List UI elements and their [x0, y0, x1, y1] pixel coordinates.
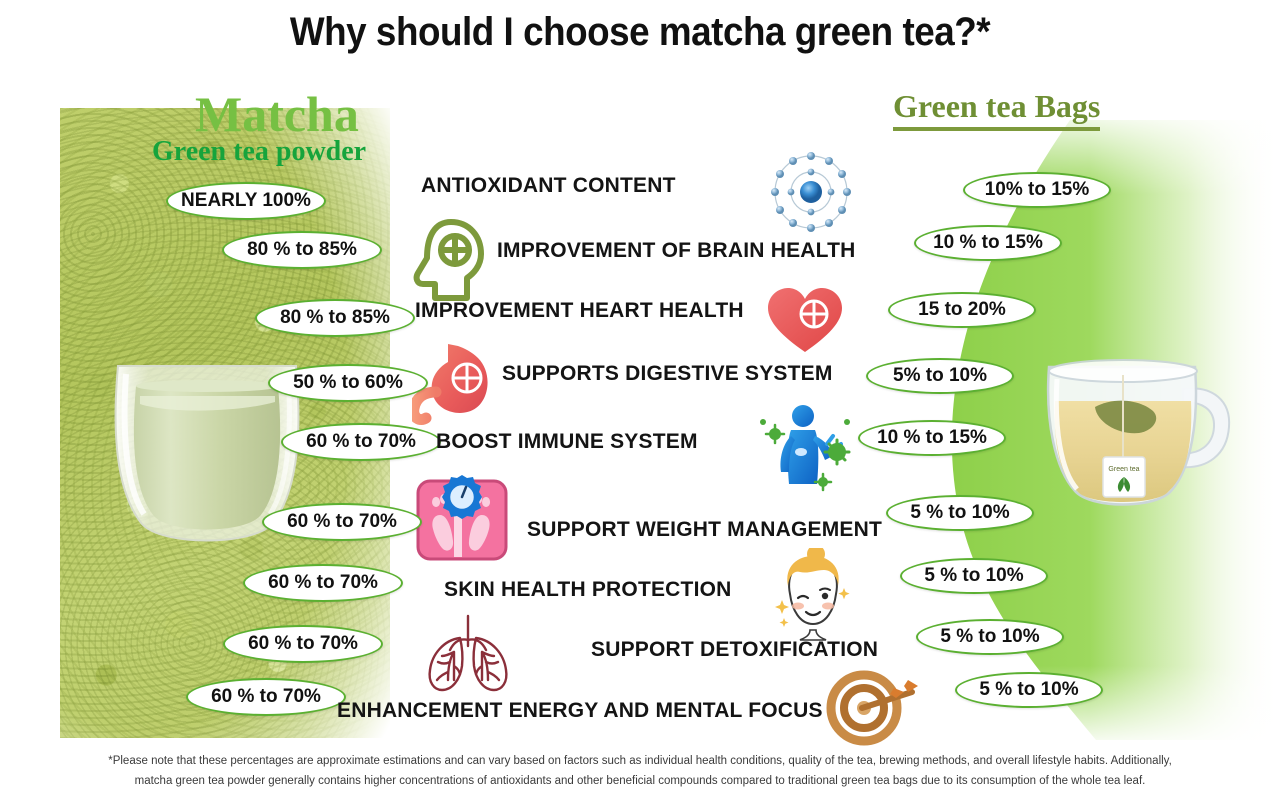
benefit-label-detox: SUPPORT DETOXIFICATION — [591, 638, 878, 662]
green-tea-bag-mug: Green tea — [1035, 345, 1235, 530]
lungs-icon — [420, 610, 516, 696]
bags-pill-antioxidant[interactable]: 10% to 15% — [963, 172, 1111, 208]
matcha-pill-detox[interactable]: 60 % to 70% — [223, 625, 383, 663]
pill-value: NEARLY 100% — [181, 190, 311, 212]
bags-pill-digestive[interactable]: 5% to 10% — [866, 358, 1014, 394]
bags-pill-heart[interactable]: 15 to 20% — [888, 292, 1036, 328]
benefit-label-heart: IMPROVEMENT HEART HEALTH — [415, 299, 744, 323]
pill-value: 80 % to 85% — [247, 239, 357, 261]
pill-value: 10% to 15% — [985, 179, 1090, 201]
green-tea-bags-title: Green tea Bags — [893, 88, 1100, 131]
pill-value: 80 % to 85% — [280, 307, 390, 329]
matcha-pill-skin[interactable]: 60 % to 70% — [243, 564, 403, 602]
benefit-label-weight: SUPPORT WEIGHT MANAGEMENT — [527, 518, 882, 542]
matcha-pill-antioxidant[interactable]: NEARLY 100% — [166, 182, 326, 220]
benefit-label-skin: SKIN HEALTH PROTECTION — [444, 578, 732, 602]
infographic-canvas: Green tea Matcha Green tea powder Green … — [0, 0, 1280, 794]
bags-pill-weight[interactable]: 5 % to 10% — [886, 495, 1034, 531]
pill-value: 60 % to 70% — [287, 511, 397, 533]
target-icon — [820, 670, 918, 746]
matcha-pill-energy[interactable]: 60 % to 70% — [186, 678, 346, 716]
footnote: *Please note that these percentages are … — [60, 752, 1220, 791]
pill-value: 5% to 10% — [893, 365, 987, 387]
bags-pill-brain[interactable]: 10 % to 15% — [914, 225, 1062, 261]
brain-head-icon — [407, 216, 491, 304]
face-icon — [768, 548, 858, 644]
benefit-label-energy: ENHANCEMENT ENERGY AND MENTAL FOCUS — [337, 699, 823, 723]
bags-pill-energy[interactable]: 5 % to 10% — [955, 672, 1103, 708]
matcha-subtitle: Green tea powder — [152, 136, 366, 168]
pill-value: 60 % to 70% — [248, 633, 358, 655]
pill-value: 5 % to 10% — [924, 565, 1023, 587]
teabag-tag-text: Green tea — [1108, 466, 1139, 473]
benefit-label-immune: BOOST IMMUNE SYSTEM — [436, 430, 698, 454]
footnote-line-2: matcha green tea powder generally contai… — [60, 772, 1220, 792]
pill-value: 60 % to 70% — [306, 431, 416, 453]
matcha-pill-heart[interactable]: 80 % to 85% — [255, 299, 415, 337]
pill-value: 5 % to 10% — [910, 502, 1009, 524]
matcha-pill-digestive[interactable]: 50 % to 60% — [268, 364, 428, 402]
immunity-icon — [757, 400, 857, 492]
matcha-title: Matcha — [195, 85, 359, 143]
matcha-pill-brain[interactable]: 80 % to 85% — [222, 231, 382, 269]
pill-value: 5 % to 10% — [979, 679, 1078, 701]
bags-pill-skin[interactable]: 5 % to 10% — [900, 558, 1048, 594]
pill-value: 10 % to 15% — [877, 427, 987, 449]
pill-value: 50 % to 60% — [293, 372, 403, 394]
pill-value: 10 % to 15% — [933, 232, 1043, 254]
footnote-line-1: *Please note that these percentages are … — [60, 752, 1220, 772]
bags-pill-immune[interactable]: 10 % to 15% — [858, 420, 1006, 456]
page-title: Why should I choose matcha green tea?* — [51, 10, 1229, 55]
atom-icon — [765, 148, 857, 236]
pill-value: 60 % to 70% — [211, 686, 321, 708]
heart-icon — [762, 282, 848, 358]
matcha-pill-immune[interactable]: 60 % to 70% — [281, 423, 441, 461]
matcha-pill-weight[interactable]: 60 % to 70% — [262, 503, 422, 541]
pill-value: 60 % to 70% — [268, 572, 378, 594]
benefit-label-digestive: SUPPORTS DIGESTIVE SYSTEM — [502, 362, 833, 386]
weight-scale-icon — [410, 473, 514, 565]
pill-value: 5 % to 10% — [940, 626, 1039, 648]
benefit-label-brain: IMPROVEMENT OF BRAIN HEALTH — [497, 239, 856, 263]
pill-value: 15 to 20% — [918, 299, 1006, 321]
benefit-label-antioxidant: ANTIOXIDANT CONTENT — [421, 174, 676, 198]
bags-pill-detox[interactable]: 5 % to 10% — [916, 619, 1064, 655]
